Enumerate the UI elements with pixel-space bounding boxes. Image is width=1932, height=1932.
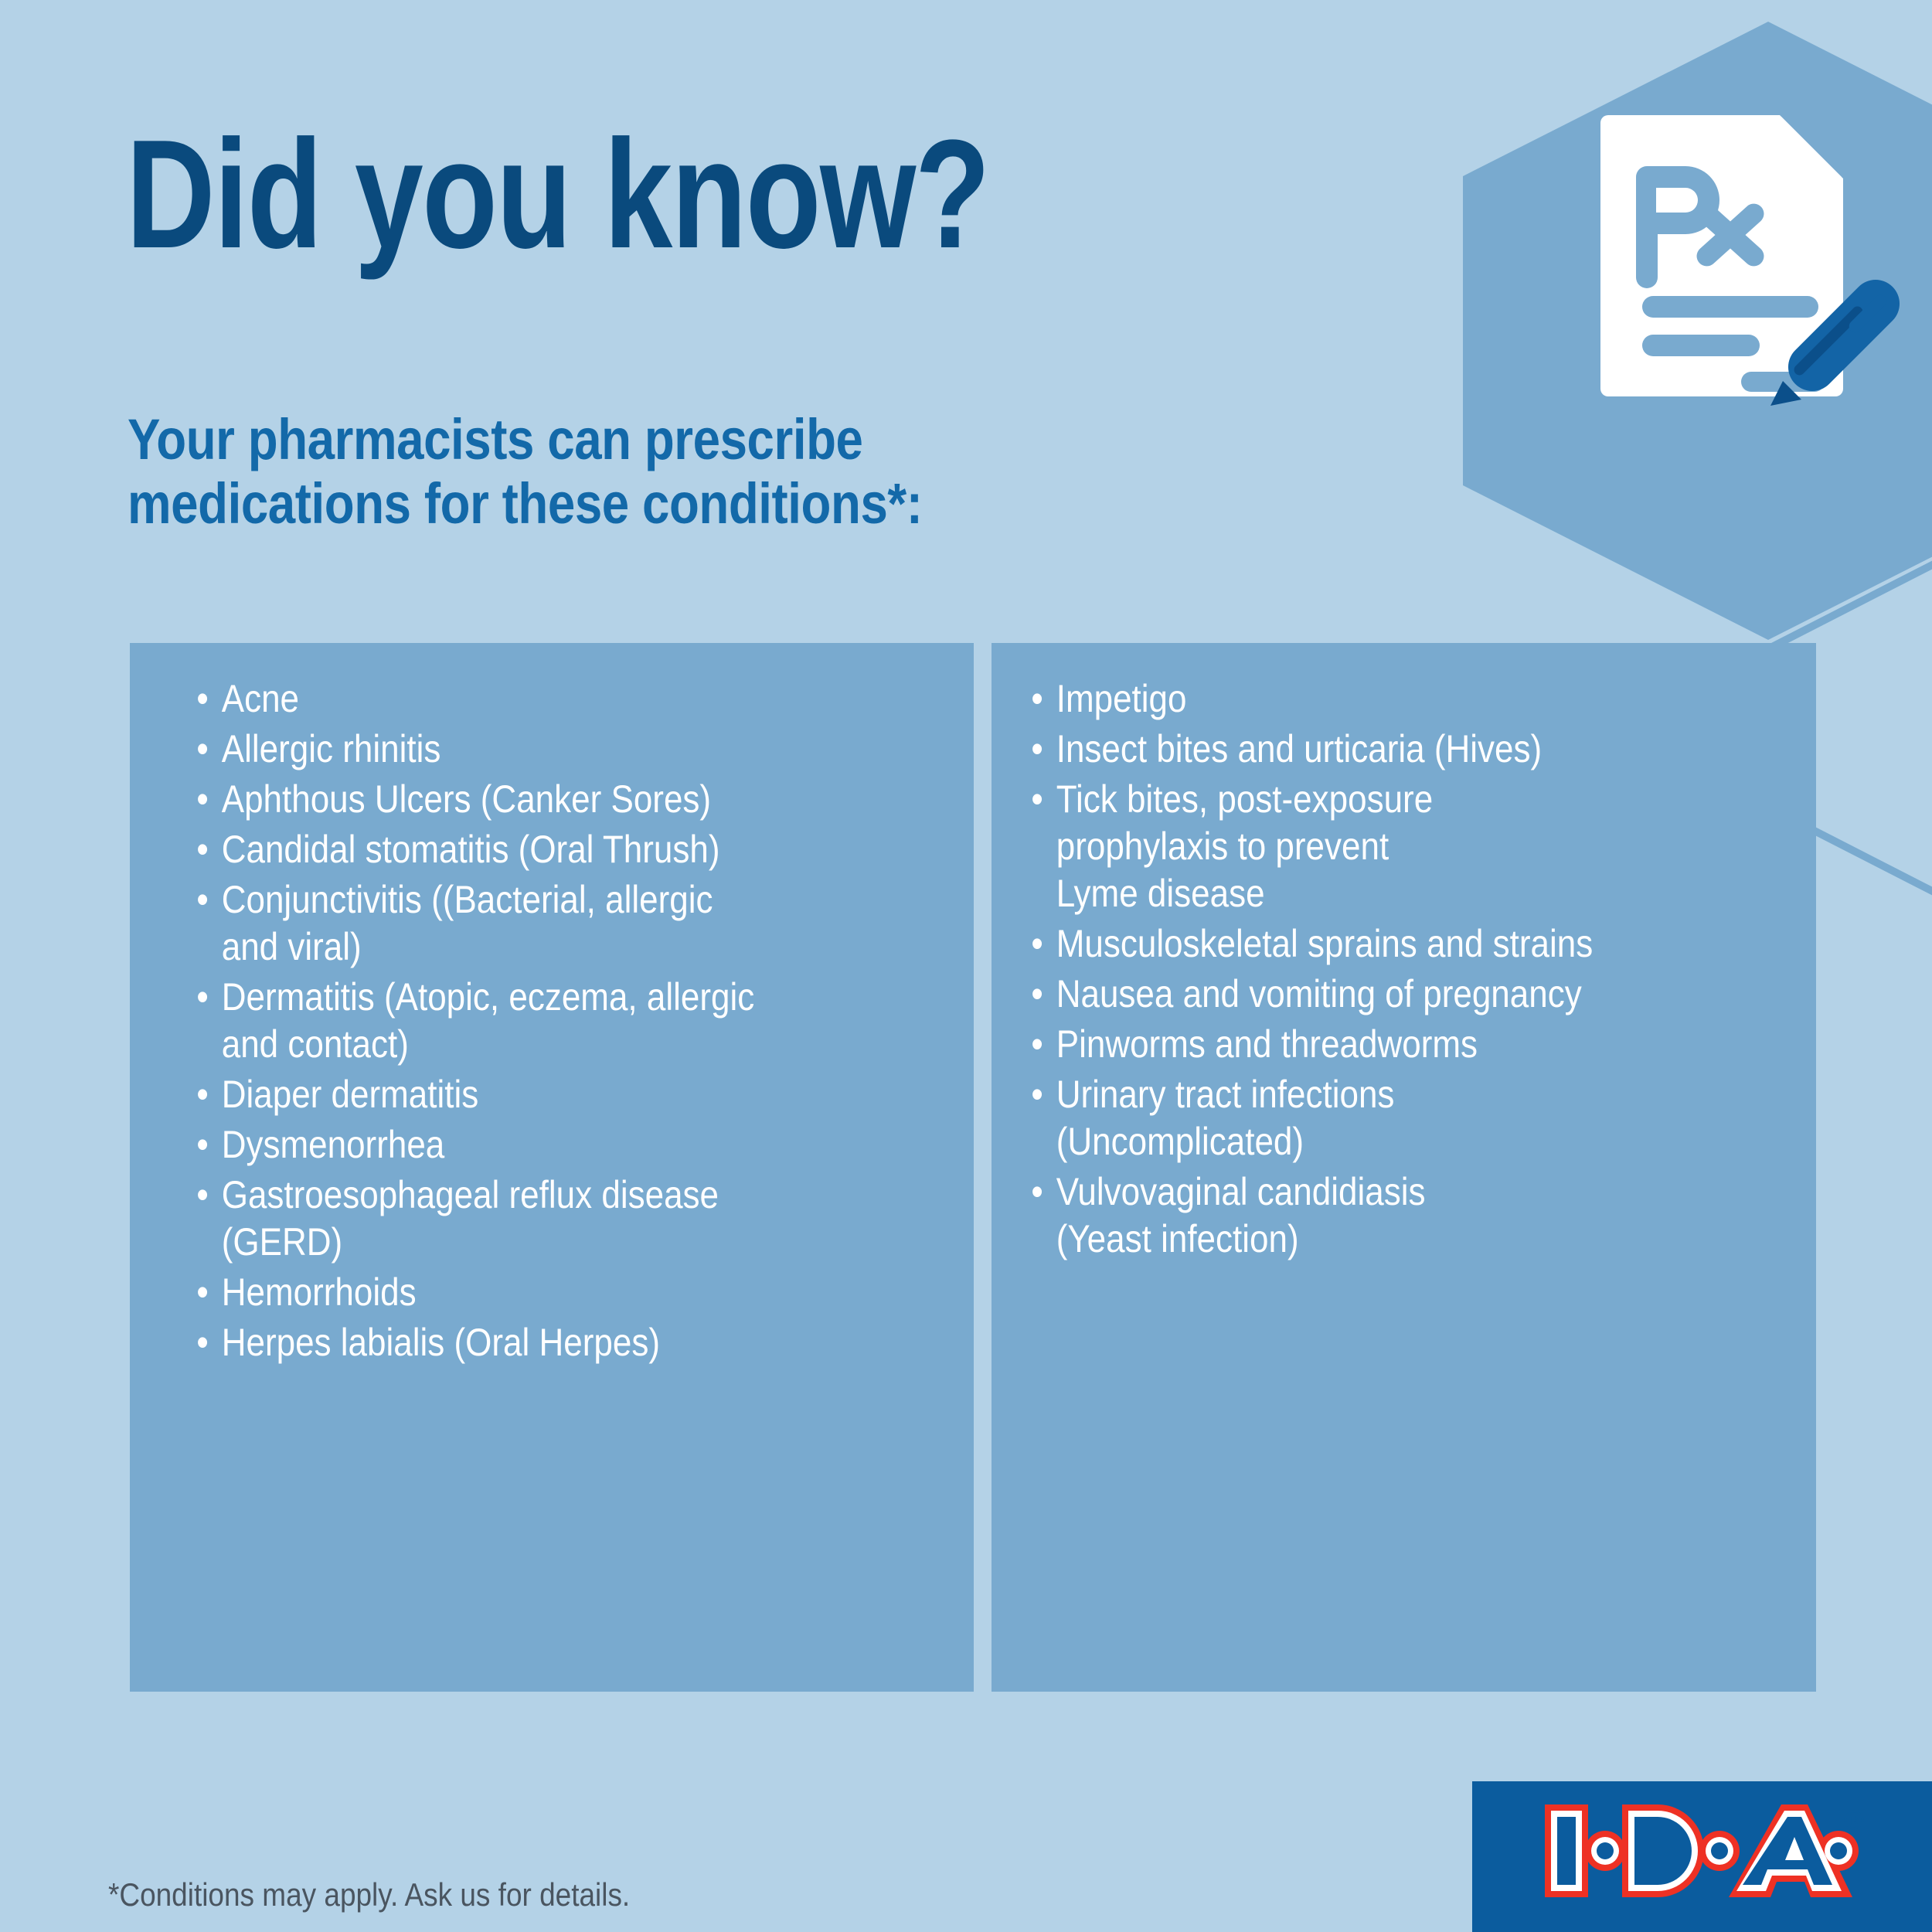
registered-trademark-icon: R [1845,1811,1862,1828]
list-item: •Pinworms and threadworms [1026,1021,1706,1068]
page-subtitle: Your pharmacists can prescribe medicatio… [128,408,923,536]
bullet-icon: • [1030,920,1044,968]
list-item: •Acne [192,675,845,723]
ida-logo: R [1472,1781,1932,1932]
list-item: •Hemorrhoids [192,1269,845,1316]
list-item: •Allergic rhinitis [192,726,845,773]
list-item-label: Pinworms and threadworms [1056,1022,1478,1066]
bullet-icon: • [1030,1168,1044,1216]
list-item-label: Urinary tract infections (Uncomplicated) [1056,1073,1395,1163]
conditions-list-left: •Acne •Allergic rhinitis •Aphthous Ulcer… [192,675,934,1369]
list-item-label: Conjunctivitis ((Bacterial, allergic and… [222,878,713,968]
footnote: *Conditions may apply. Ask us for detail… [108,1876,630,1913]
list-item: •Insect bites and urticaria (Hives) [1026,726,1706,773]
bullet-icon: • [196,974,209,1021]
list-item: •Aphthous Ulcers (Canker Sores) [192,776,845,823]
list-item-label: Musculoskeletal sprains and strains [1056,922,1594,965]
conditions-list-right: •Impetigo •Insect bites and urticaria (H… [1026,675,1799,1266]
list-item: •Herpes labialis (Oral Herpes) [192,1319,845,1366]
conditions-panel-left: •Acne •Allergic rhinitis •Aphthous Ulcer… [130,643,974,1692]
bullet-icon: • [196,1071,209,1118]
bullet-icon: • [196,876,209,923]
list-item: •Vulvovaginal candidiasis (Yeast infecti… [1026,1168,1706,1263]
bullet-icon: • [1030,1071,1044,1118]
bullet-icon: • [196,1172,209,1219]
prescription-document-icon [1594,112,1927,421]
list-item-label: Herpes labialis (Oral Herpes) [222,1321,660,1364]
list-item: •Nausea and vomiting of pregnancy [1026,971,1706,1018]
bullet-icon: • [1030,971,1044,1018]
bullet-icon: • [1030,675,1044,723]
list-item-label: Vulvovaginal candidiasis (Yeast infectio… [1056,1170,1426,1260]
list-item: •Dermatitis (Atopic, eczema, allergic an… [192,974,845,1068]
bullet-icon: • [196,826,209,873]
list-item-label: Aphthous Ulcers (Canker Sores) [222,777,711,821]
list-item-label: Impetigo [1056,677,1187,720]
list-item-label: Diaper dermatitis [222,1073,479,1116]
svg-text:R: R [1850,1814,1858,1826]
bullet-icon: • [196,1319,209,1366]
list-item: •Candidal stomatitis (Oral Thrush) [192,826,845,873]
list-item: •Impetigo [1026,675,1706,723]
bullet-icon: • [196,1121,209,1168]
list-item: •Gastroesophageal reflux disease (GERD) [192,1172,845,1266]
list-item-label: Dysmenorrhea [222,1123,445,1166]
list-item: •Musculoskeletal sprains and strains [1026,920,1706,968]
list-item-label: Hemorrhoids [222,1270,417,1314]
bullet-icon: • [196,1269,209,1316]
bullet-icon: • [196,675,209,723]
page-title: Did you know? [126,117,989,272]
infographic-poster: Did you know? Your pharmacists can presc… [0,0,1932,1932]
conditions-panel-right: •Impetigo •Insect bites and urticaria (H… [992,643,1816,1692]
bullet-icon: • [196,776,209,823]
list-item-label: Insect bites and urticaria (Hives) [1056,727,1542,770]
bullet-icon: • [1030,776,1044,823]
list-item-label: Allergic rhinitis [222,727,441,770]
list-item-label: Acne [222,677,299,720]
list-item: •Conjunctivitis ((Bacterial, allergic an… [192,876,845,971]
bullet-icon: • [196,726,209,773]
list-item: •Urinary tract infections (Uncomplicated… [1026,1071,1706,1165]
bullet-icon: • [1030,1021,1044,1068]
list-item: •Tick bites, post-exposure prophylaxis t… [1026,776,1706,917]
list-item-label: Gastroesophageal reflux disease (GERD) [222,1173,719,1264]
bullet-icon: • [1030,726,1044,773]
list-item-label: Nausea and vomiting of pregnancy [1056,972,1582,1015]
list-item: •Diaper dermatitis [192,1071,845,1118]
list-item-label: Tick bites, post-exposure prophylaxis to… [1056,777,1433,915]
list-item-label: Candidal stomatitis (Oral Thrush) [222,828,720,871]
list-item-label: Dermatitis (Atopic, eczema, allergic and… [222,975,755,1066]
list-item: •Dysmenorrhea [192,1121,845,1168]
ida-logo-mark: R [1540,1800,1865,1916]
